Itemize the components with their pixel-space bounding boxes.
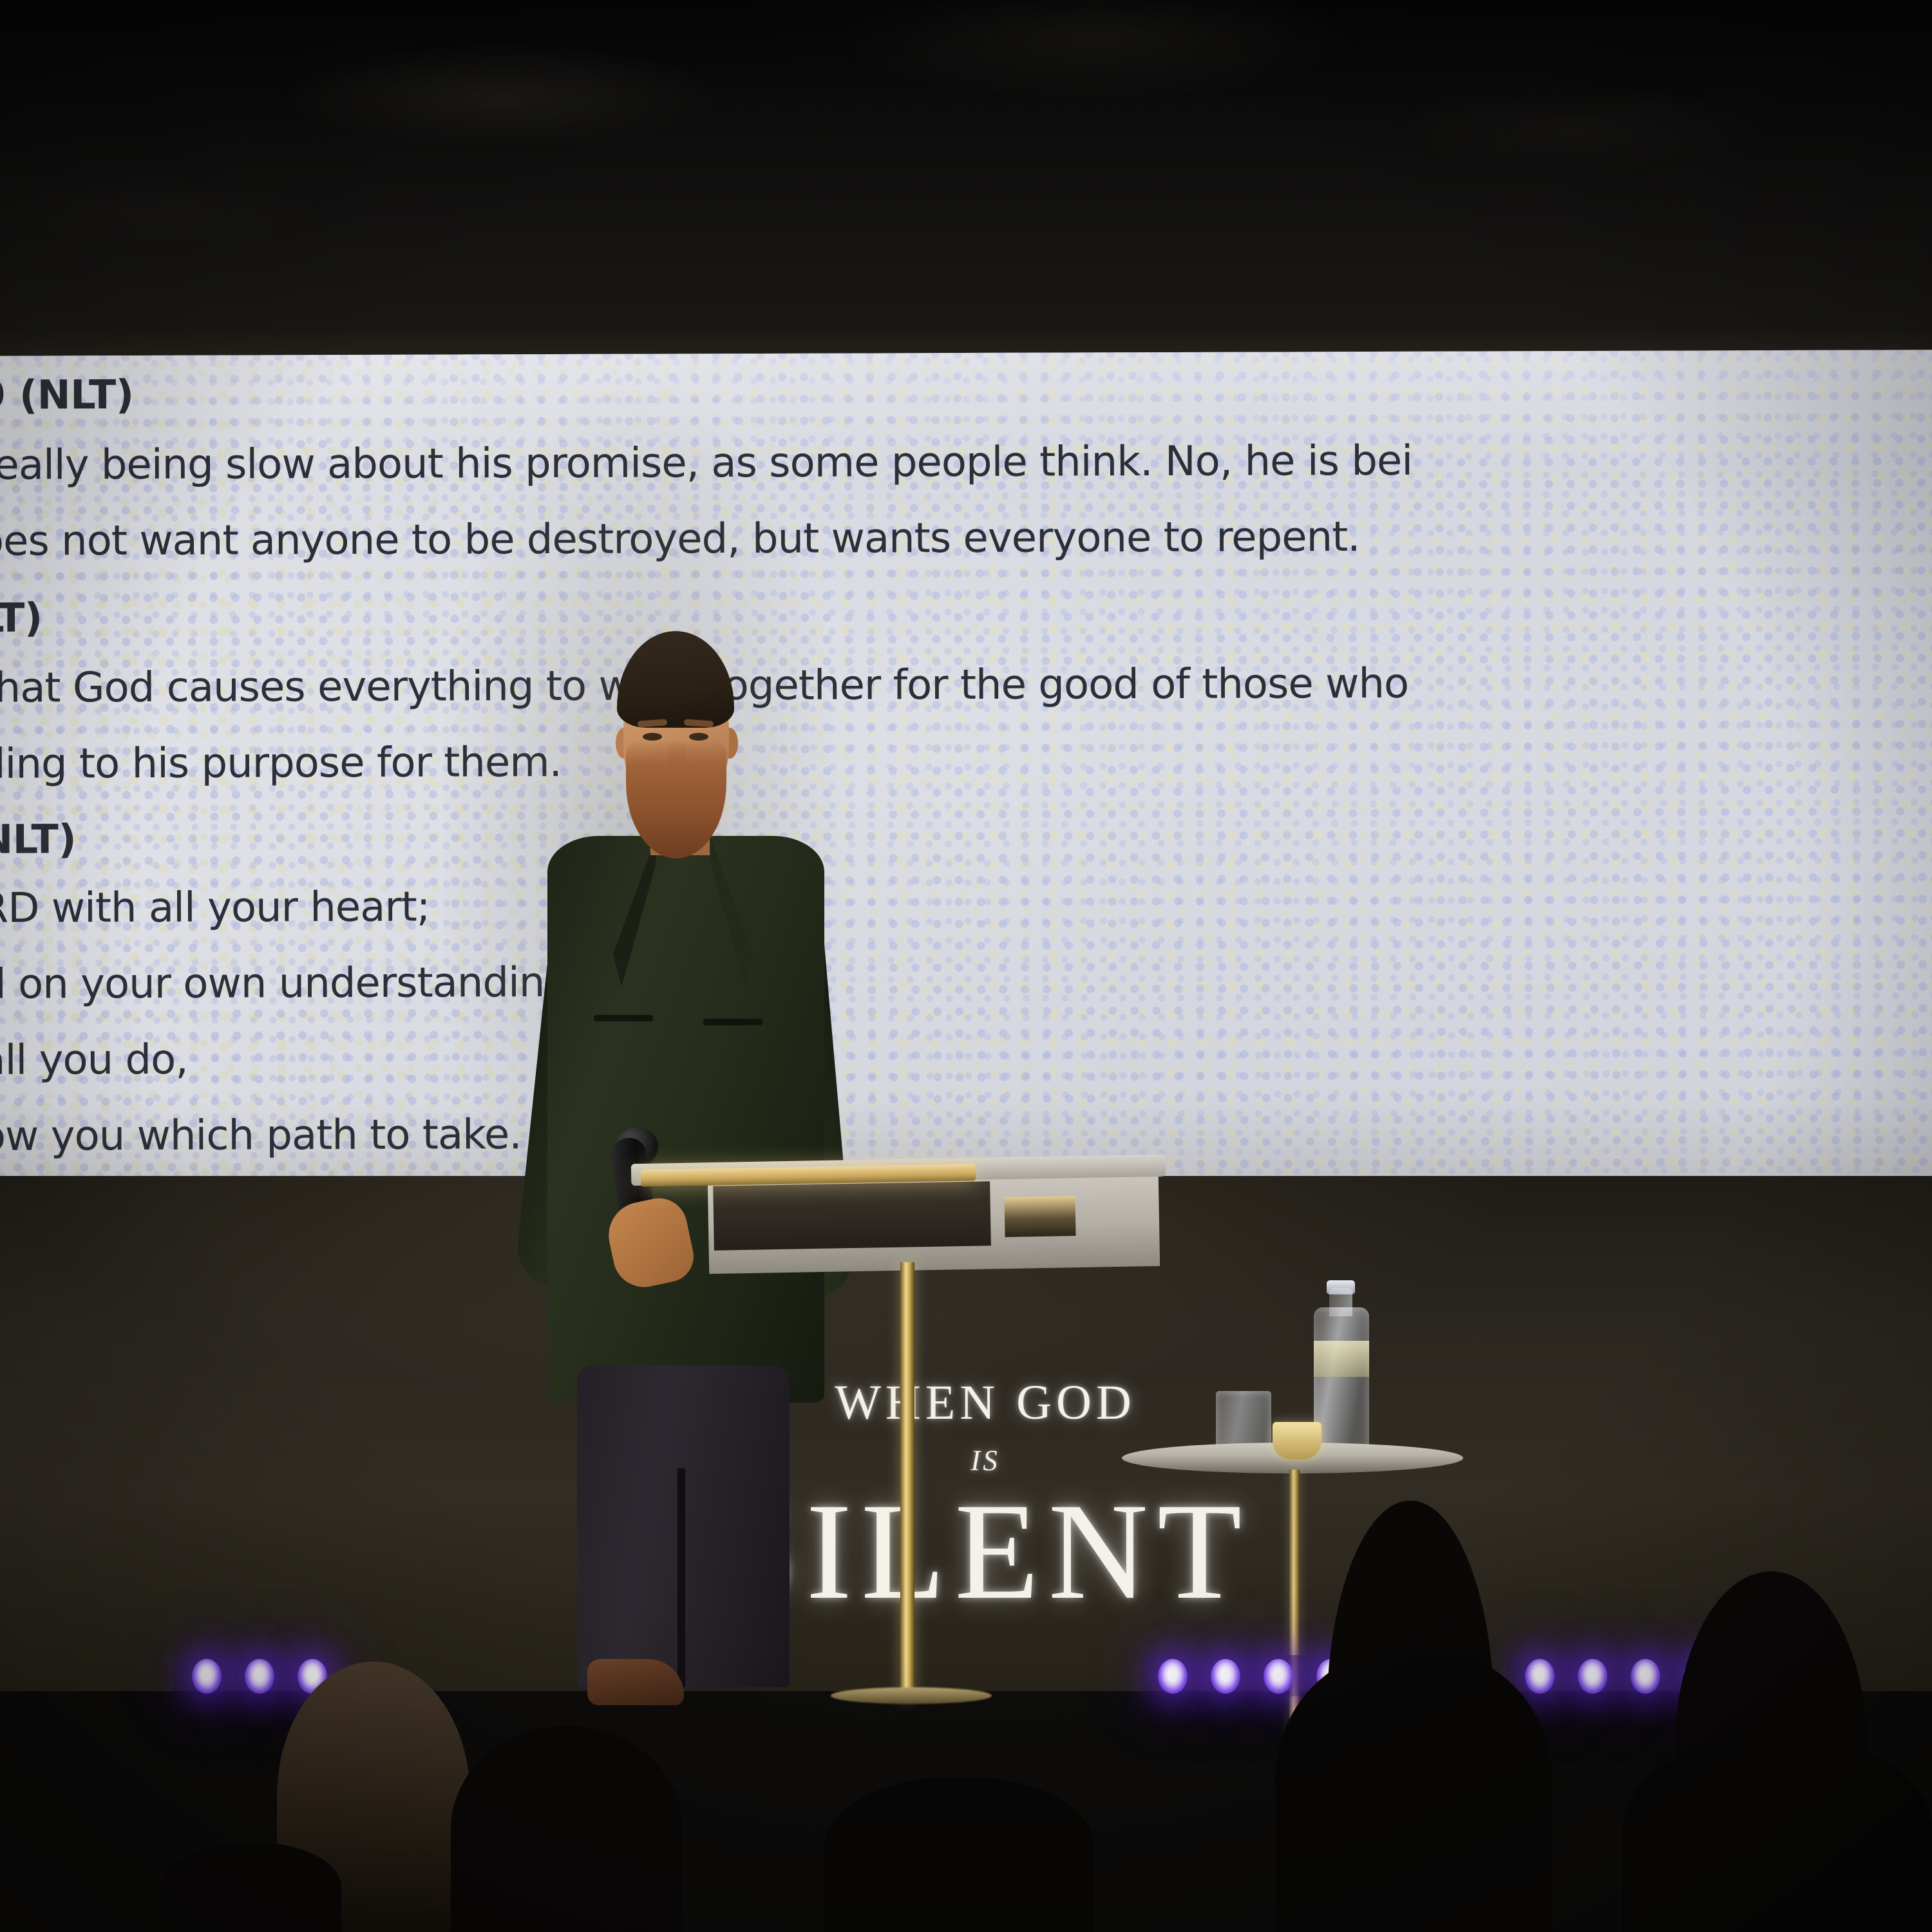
- slide-line-verse-1: really being slow about his promise, as …: [0, 440, 1412, 486]
- podium-shelf-slot: [1004, 1196, 1075, 1237]
- slide-line-verse-7: all you do,: [0, 1039, 188, 1081]
- stage-uplight: [1631, 1659, 1660, 1694]
- speaker-jacket: [547, 836, 824, 1403]
- slide-line-ref-1: 9 (NLT): [0, 375, 134, 415]
- stage-uplight: [1578, 1659, 1607, 1694]
- slide-line-verse-5: RD with all your heart;: [0, 887, 430, 929]
- podium-stem: [900, 1262, 914, 1700]
- audience-shoulders: [1275, 1649, 1552, 1932]
- projection-screen: 9 (NLT) really being slow about his prom…: [0, 350, 1932, 1183]
- stage-uplight: [1525, 1659, 1555, 1694]
- slide-line-ref-2: LT): [0, 598, 43, 638]
- stage-uplight: [1264, 1659, 1293, 1694]
- audience-member: [451, 1726, 683, 1932]
- stage-uplight: [1211, 1659, 1240, 1694]
- speaker-shoe: [587, 1659, 684, 1705]
- water-bottle-label: [1314, 1341, 1369, 1377]
- audience-member: [824, 1777, 1095, 1932]
- speaker-pant-seam: [677, 1468, 685, 1687]
- podium-base: [831, 1687, 992, 1704]
- audience-member: [161, 1842, 341, 1932]
- water-bottle: [1314, 1307, 1369, 1461]
- small-cup: [1273, 1422, 1321, 1459]
- speaker-pocket-left: [594, 1015, 653, 1021]
- stage-uplight: [245, 1659, 274, 1694]
- speaker-pocket-right: [703, 1019, 762, 1025]
- speaker-hair: [617, 631, 734, 728]
- audience-shoulders: [1623, 1739, 1932, 1932]
- stage-scene: 9 (NLT) really being slow about his prom…: [0, 0, 1932, 1932]
- podium-front-panel: [713, 1181, 991, 1250]
- ceiling-texture: [0, 0, 1932, 361]
- slide-line-verse-2: oes not want anyone to be destroyed, but…: [0, 516, 1360, 562]
- slide-line-ref-3: NLT): [0, 819, 76, 859]
- stage-uplight: [1158, 1659, 1188, 1694]
- stage-uplight: [192, 1659, 222, 1694]
- slide-line-verse-8: ow you which path to take.: [0, 1114, 522, 1157]
- ceiling-band: [0, 0, 1932, 361]
